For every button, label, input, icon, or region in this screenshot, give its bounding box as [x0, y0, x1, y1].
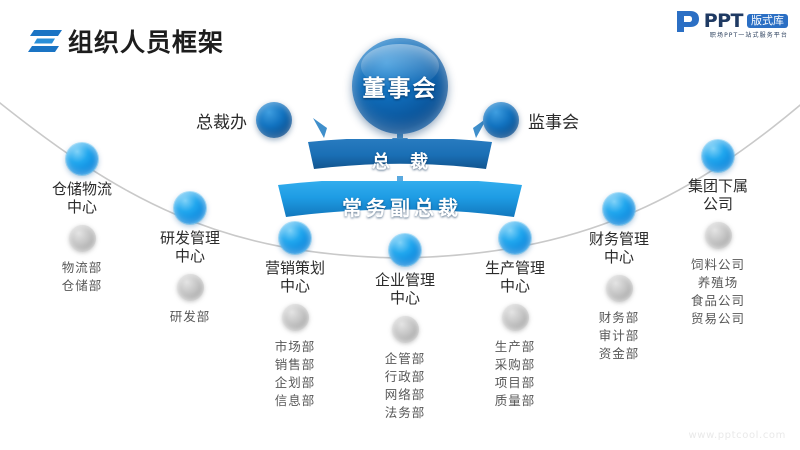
board-of-directors-label: 董事会	[363, 69, 438, 103]
board-of-directors-node[interactable]: 董事会	[352, 38, 448, 134]
organization-chart-slide: 组织人员框架 PPT 版式库 职场PPT一站式服务平台 董事会 总裁办 监事会	[0, 0, 800, 450]
arrow-to-presidents-office	[313, 118, 327, 138]
supervisors-board-label: 监事会	[528, 108, 579, 133]
branch-sub-dot-icon	[177, 274, 204, 301]
branch-bubble-icon	[499, 222, 531, 254]
branch-sub-dot-icon	[69, 225, 96, 252]
president-ribbon[interactable]: 总 裁	[308, 139, 492, 179]
branch-node-subsidiary-companies[interactable]: 集团下属 公司 饲料公司 养殖场 食品公司 贸易公司	[648, 140, 788, 327]
branch-sub-dot-icon	[705, 222, 732, 249]
list-item: 养殖场	[648, 274, 788, 292]
vice-president-ribbon-shape	[278, 181, 522, 227]
supervisors-board-node[interactable]: 监事会	[483, 102, 579, 138]
presidents-office-bubble-icon	[256, 102, 292, 138]
branch-sub-dot-icon	[502, 304, 529, 331]
branch-sub-dot-icon	[392, 316, 419, 343]
branch-bubble-icon	[66, 143, 98, 175]
branch-bubble-icon	[603, 193, 635, 225]
list-item: 审计部	[549, 327, 689, 345]
branch-bubble-icon	[279, 222, 311, 254]
supervisors-board-bubble-icon	[483, 102, 519, 138]
branch-sub-dot-icon	[282, 304, 309, 331]
presidents-office-label: 总裁办	[196, 108, 247, 133]
branch-sub-list: 饲料公司 养殖场 食品公司 贸易公司	[648, 256, 788, 327]
branch-title: 集团下属 公司	[648, 178, 788, 213]
list-item: 资金部	[549, 345, 689, 363]
branch-sub-dot-icon	[606, 275, 633, 302]
president-ribbon-shape	[308, 139, 492, 179]
branch-bubble-icon	[702, 140, 734, 172]
presidents-office-node[interactable]: 总裁办	[196, 102, 292, 138]
footer-watermark: www.pptcool.com	[689, 430, 786, 441]
branch-bubble-icon	[389, 234, 421, 266]
list-item: 项目部	[445, 374, 585, 392]
list-item: 饲料公司	[648, 256, 788, 274]
list-item: 食品公司	[648, 292, 788, 310]
branch-bubble-icon	[174, 192, 206, 224]
vice-president-ribbon[interactable]: 常务副总裁	[278, 181, 522, 227]
list-item: 贸易公司	[648, 310, 788, 328]
list-item: 质量部	[445, 392, 585, 410]
